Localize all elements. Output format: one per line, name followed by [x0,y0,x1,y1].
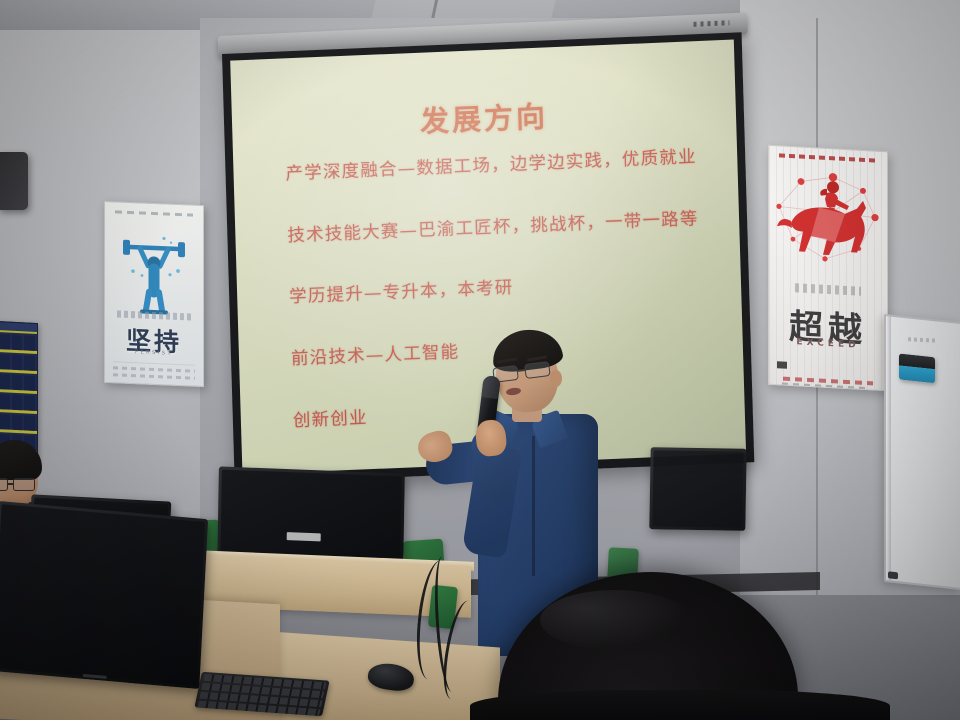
foreground-student-shoulders [470,690,890,720]
whiteboard-marks [908,337,938,343]
horse-and-rider-icon [771,160,887,284]
notice-cell [12,335,23,351]
poster-subtext-line [795,283,861,296]
notice-cell [12,415,23,431]
poster-footer [113,361,195,378]
poster-footer [777,354,879,376]
housing-label [693,20,729,27]
notice-cell [0,414,10,430]
notice-cell [12,375,23,391]
notice-cell [24,355,35,371]
instructor-shirt-placket [532,436,535,576]
glasses-bridge [8,483,14,485]
notice-cell [24,395,35,411]
monitor-label [286,532,320,541]
notice-cell [24,375,35,391]
whiteboard [884,314,960,590]
notice-cell [0,374,10,390]
glasses-lens [0,478,8,491]
glasses-lens [524,361,551,379]
monitor-screen [0,504,205,686]
slide-bullet: 技术技能大赛—巴渝工匠杯，挑战杯，一带一路等 [287,208,719,247]
weightlifter-icon [118,228,190,319]
poster-top-rule [115,210,193,216]
notice-board-row [0,332,37,354]
persist-poster: 坚持 PERSIST [104,201,204,387]
notice-cell [24,415,35,431]
poster-footer-line [113,366,195,372]
notice-cell [12,395,23,411]
glasses-lens [13,478,35,491]
monitor-screen [652,450,743,528]
exceed-poster: 超越 EXCEED [768,145,888,391]
monitor [0,501,208,689]
notice-board-row [0,392,37,414]
notice-cell [0,354,10,370]
notice-board-row [0,352,37,374]
notice-board-row [0,412,37,434]
notice-cell [0,394,10,410]
whiteboard-corner [888,571,898,579]
classroom-photo-scene: 坚持 PERSIST [0,0,960,720]
student-hair [0,440,42,480]
notice-board-row [0,372,37,394]
wall-speaker-icon [0,152,28,210]
glasses-icon [0,478,38,492]
whiteboard-eraser-icon [899,353,935,383]
monitor [649,447,746,531]
notice-cell [12,355,23,371]
slide-bullet: 产学深度融合—数据工场，边学边实践，优质就业 [285,146,717,185]
eraser-body [899,365,935,383]
notice-cell [0,334,10,350]
poster-footer-mark [777,361,787,369]
notice-cell [24,335,35,351]
microphone-head [481,375,501,399]
slide-bullet: 学历提升—专升本，本考研 [289,269,721,308]
slide-title: 发展方向 [232,86,737,149]
whiteboard-frame [886,316,891,581]
poster-footer-line [113,373,195,379]
